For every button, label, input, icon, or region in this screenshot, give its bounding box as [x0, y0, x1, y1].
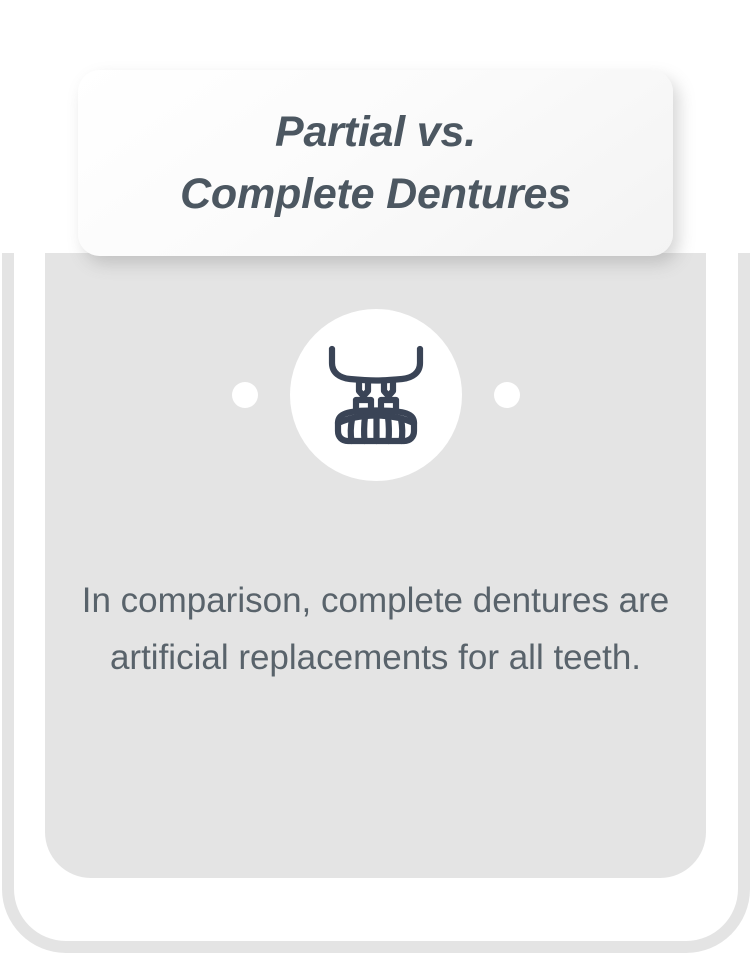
icon-row [45, 308, 706, 482]
icon-badge [290, 309, 462, 481]
slide-canvas: Partial vs. Complete Dentures [0, 0, 750, 930]
dentures-icon [321, 343, 431, 447]
page-title: Partial vs. Complete Dentures [180, 101, 571, 226]
body-paragraph: In comparison, complete dentures are art… [75, 572, 676, 687]
header-card: Partial vs. Complete Dentures [78, 70, 673, 256]
decorative-dot-right [494, 382, 520, 408]
decorative-dot-left [232, 382, 258, 408]
